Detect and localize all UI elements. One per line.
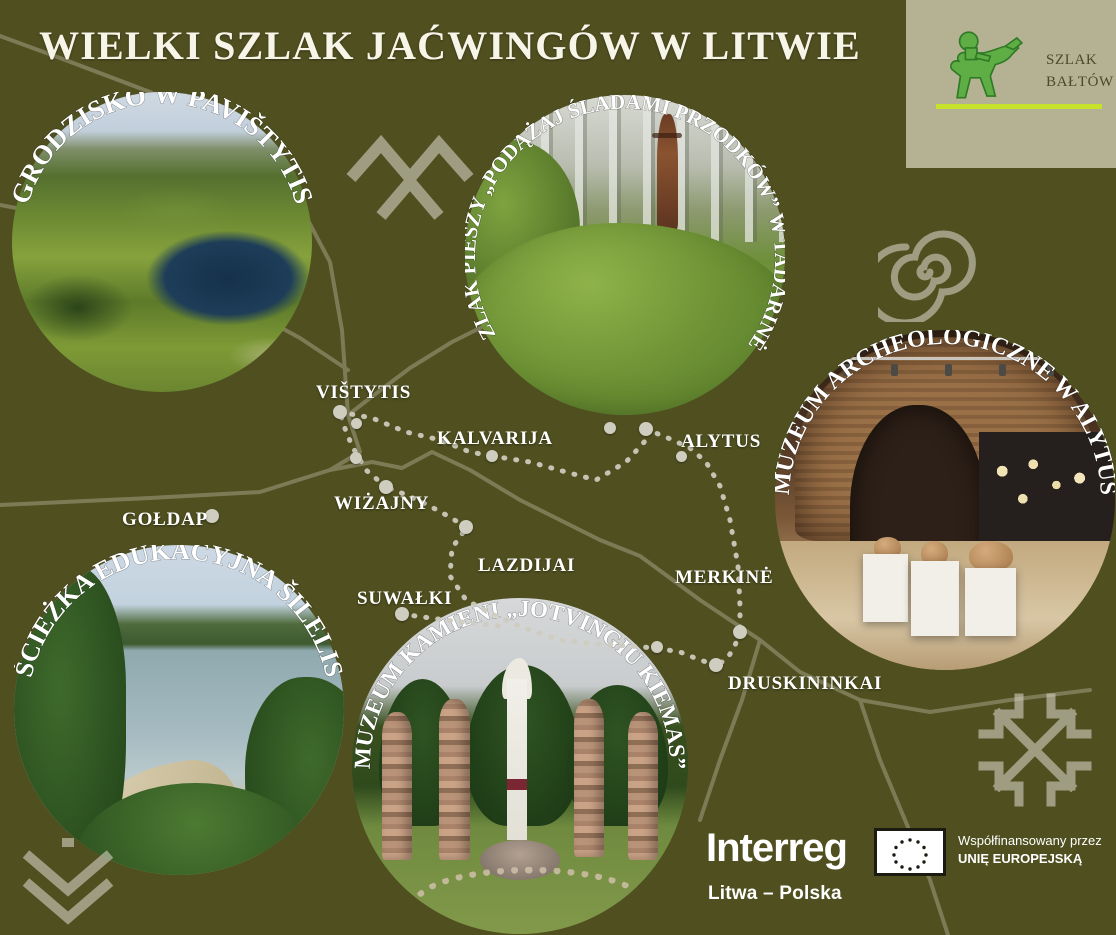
map-dot-lazdijai[interactable] bbox=[459, 520, 473, 534]
medallion-muzeum-kamieni-jotvingiu-kiemas[interactable]: MUZEUM KAMIENI „JOTVINGIU KIEMAS” bbox=[352, 598, 688, 934]
logo-underline bbox=[936, 104, 1102, 109]
eu-funding-text: Współfinansowany przez UNIĘ EUROPEJSKĄ bbox=[958, 832, 1102, 867]
chevron-ornament bbox=[18, 838, 118, 930]
horse-rider-icon bbox=[940, 28, 1024, 106]
logo-line-2: BAŁTÓW bbox=[1046, 72, 1116, 94]
map-dot-route-c bbox=[350, 452, 362, 464]
medallion-szlak-pieszy-tadarine[interactable]: SZLAK PIESZY „PODĄŻAJ ŚLADAMI PRZODKÓW” … bbox=[465, 95, 785, 415]
map-dot-route-e bbox=[651, 641, 663, 653]
map-label-kalvarija[interactable]: KALVARIJA bbox=[437, 428, 553, 450]
map-dot-alytus[interactable] bbox=[639, 422, 653, 436]
aerial-lake-forest-photo bbox=[12, 92, 312, 392]
zigzag-ornament bbox=[345, 130, 475, 230]
map-label-druskininkai[interactable]: DRUSKININKAI bbox=[728, 673, 882, 695]
map-dot-route-b bbox=[604, 422, 616, 434]
poster-canvas: WIELKI SZLAK JAĆWINGÓW W LITWIE SZLAK BA… bbox=[0, 0, 1116, 935]
eu-flag-icon bbox=[874, 828, 946, 876]
lake-shore-pines-photo bbox=[14, 545, 344, 875]
interreg-programme: Litwa – Polska bbox=[708, 883, 842, 905]
map-dot-kalvarija[interactable] bbox=[486, 450, 498, 462]
baltic-cross-ornament bbox=[975, 690, 1095, 810]
eu-funding-line-1: Współfinansowany przez bbox=[958, 832, 1102, 850]
page-title: WIELKI SZLAK JAĆWINGÓW W LITWIE bbox=[0, 22, 900, 69]
map-dot-merkine[interactable] bbox=[733, 625, 747, 639]
stone-pillars-park-photo bbox=[352, 598, 688, 934]
map-label-merkine[interactable]: MERKINĖ bbox=[675, 567, 774, 589]
museum-vault-interior-photo bbox=[775, 330, 1115, 670]
map-dot-wizajny[interactable] bbox=[379, 480, 393, 494]
map-dot-druskininkai[interactable] bbox=[709, 658, 723, 672]
eu-funding-line-2: UNIĘ EUROPEJSKĄ bbox=[958, 850, 1102, 868]
spiral-ornament bbox=[878, 222, 978, 322]
map-label-goldap[interactable]: GOŁDAP bbox=[122, 509, 208, 531]
interreg-wordmark: Interreg bbox=[706, 826, 847, 871]
medallion-muzeum-archeologiczne-alytus[interactable]: MUZEUM ARCHEOLOGICZNE W ALYTUS bbox=[775, 330, 1115, 670]
map-label-vistytis[interactable]: VIŠTYTIS bbox=[316, 382, 411, 404]
map-label-alytus[interactable]: ALYTUS bbox=[681, 431, 761, 453]
map-label-lazdijai[interactable]: LAZDIJAI bbox=[478, 555, 575, 577]
medallion-grodzisko-pavistytis[interactable]: GRODZISKO W PAVIŠTYTIS bbox=[12, 92, 312, 392]
logo-wordmark: SZLAK BAŁTÓW bbox=[1046, 50, 1116, 94]
interreg-logo-block: Interreg Litwa – Polska Współfinansowany… bbox=[706, 826, 1102, 916]
medallion-sciezka-edukacyjna-silelis[interactable]: ŚCIEŻKA EDUKACYJNA ŠILELIS bbox=[14, 545, 344, 875]
brand-logo[interactable]: SZLAK BAŁTÓW bbox=[906, 0, 1116, 168]
mossy-boulder-idol-photo bbox=[465, 95, 785, 415]
logo-line-1: SZLAK bbox=[1046, 50, 1116, 72]
map-dot-vistytis[interactable] bbox=[333, 405, 347, 419]
map-label-suwalki[interactable]: SUWAŁKI bbox=[357, 588, 452, 610]
map-dot-route-a bbox=[351, 418, 362, 429]
map-label-wizajny[interactable]: WIŻAJNY bbox=[334, 493, 429, 515]
